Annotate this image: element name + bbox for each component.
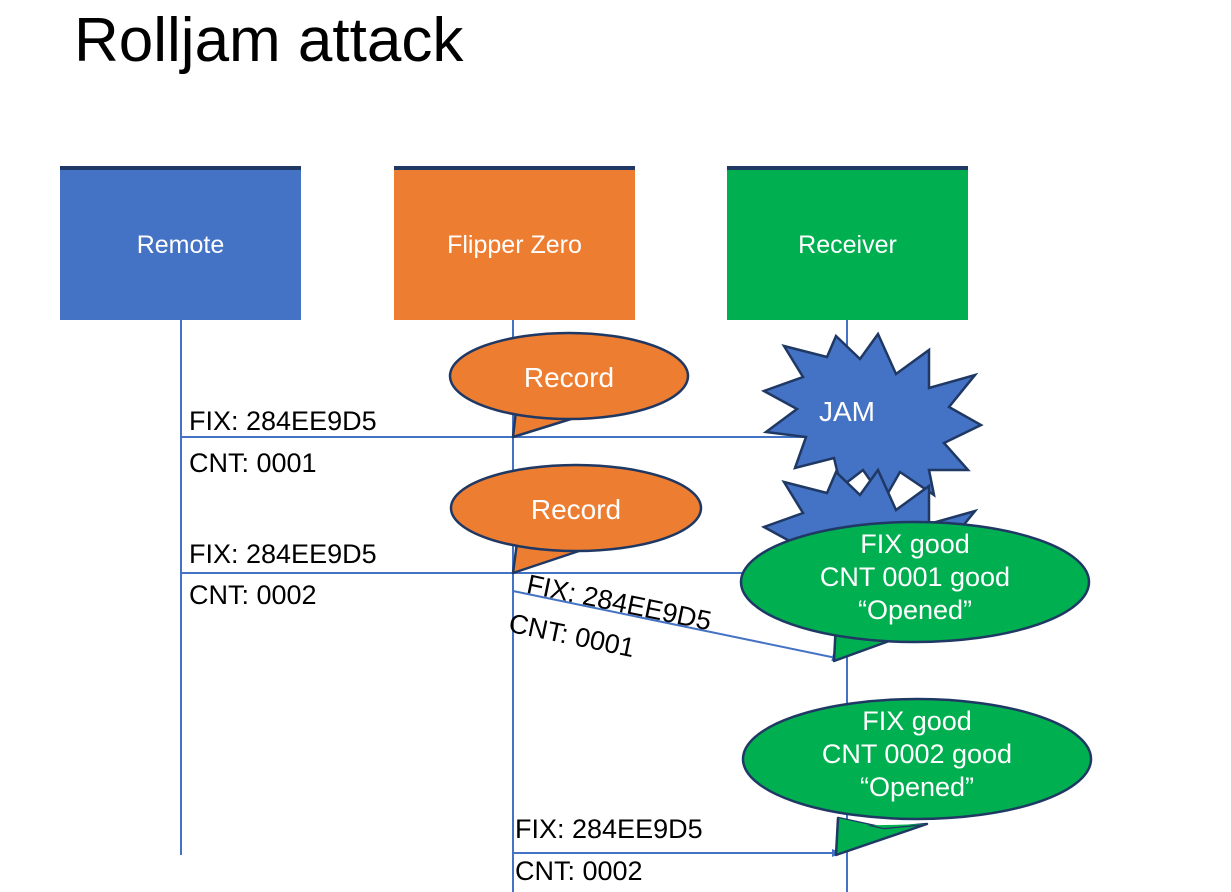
msg4-fix-label: FIX: 284EE9D5 xyxy=(515,813,703,845)
msg1-fix-label: FIX: 284EE9D5 xyxy=(189,405,377,437)
msg2-fix-label: FIX: 284EE9D5 xyxy=(189,538,377,570)
page-title: Rolljam attack xyxy=(74,6,463,75)
slide-canvas: Rolljam attack Remote Flipper Zero Recei… xyxy=(0,0,1231,892)
jam-starburst-1 xyxy=(764,334,981,500)
msg1-cnt-label: CNT: 0001 xyxy=(189,447,317,479)
actor-label-flipper: Flipper Zero xyxy=(447,230,582,260)
msg2-cnt-label: CNT: 0002 xyxy=(189,579,317,611)
callout-opened-2 xyxy=(743,699,1091,855)
actor-box-flipper[interactable]: Flipper Zero xyxy=(394,166,635,320)
actor-label-receiver: Receiver xyxy=(798,230,897,260)
callout-opened-1 xyxy=(741,522,1089,661)
actor-label-remote: Remote xyxy=(137,230,225,260)
callout-record-1 xyxy=(450,333,688,437)
actor-box-remote[interactable]: Remote xyxy=(60,166,301,320)
callout-record-2 xyxy=(451,465,701,573)
actor-box-receiver[interactable]: Receiver xyxy=(727,166,968,320)
msg4-cnt-label: CNT: 0002 xyxy=(515,855,643,887)
diagram-vector-layer xyxy=(0,0,1231,892)
